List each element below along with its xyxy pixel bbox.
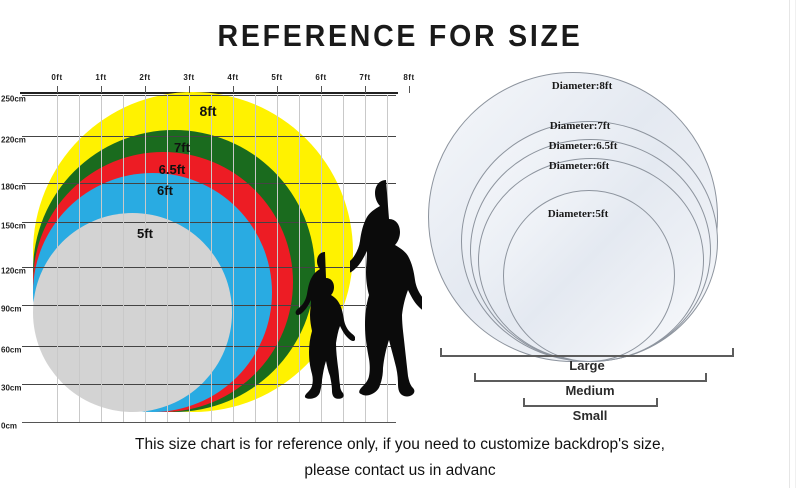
xtick-7ft [365,86,366,93]
xtick-4ft [233,86,234,93]
vgridline-2ft [145,95,146,422]
ring-5ft [33,213,232,412]
yaxis-label-250cm: 250cm [1,95,26,104]
ring-label-7ft: 7ft [174,140,190,155]
xtick-0ft [57,86,58,93]
child-silhouette [295,250,355,428]
disc-label-8ft: Diameter:8ft [552,80,612,92]
yaxis-label-30cm: 30cm [1,384,21,393]
disc-label-6_5ft: Diameter:6.5ft [549,140,618,152]
xaxis-label-7ft: 7ft [359,73,370,82]
bracket-large [440,348,734,357]
xaxis-label-2ft: 2ft [139,73,150,82]
xtick-2ft [145,86,146,93]
disc-size-panel: Diameter:8ft Diameter:7ft Diameter:6.5ft… [420,58,800,430]
page-title: REFERENCE FOR SIZE [32,18,768,54]
size-reference-chart: REFERENCE FOR SIZE [0,0,800,488]
vgridline-2_5ft [167,95,168,422]
yaxis-label-180cm: 180cm [1,183,26,192]
vgridline-4_5ft [255,95,256,422]
bracket-label-small: Small [573,408,608,423]
bracket-label-large: Large [569,358,604,373]
xaxis-label-0ft: 0ft [51,73,62,82]
yaxis-label-0cm: 0cm [1,422,17,431]
vgridline-1ft [101,95,102,422]
ring-label-5ft: 5ft [137,226,153,241]
woman-silhouette [350,178,422,430]
yaxis-label-60cm: 60cm [1,346,21,355]
vgridline-0_5ft [79,95,80,422]
yaxis-label-120cm: 120cm [1,267,26,276]
yaxis-label-220cm: 220cm [1,136,26,145]
xtick-6ft [321,86,322,93]
vgridline-1_5ft [123,95,124,422]
xaxis-label-8ft: 8ft [403,73,414,82]
vgridline-3_5ft [211,95,212,422]
caption-line-2: please contact us in advanc [0,458,800,484]
disc-label-7ft: Diameter:7ft [550,120,610,132]
ring-label-8ft: 8ft [199,103,216,119]
xaxis-label-4ft: 4ft [227,73,238,82]
xtick-5ft [277,86,278,93]
yaxis-label-90cm: 90cm [1,305,21,314]
caption-line-1: This size chart is for reference only, i… [135,436,665,453]
yaxis-label-150cm: 150cm [1,222,26,231]
vgridline-0ft [57,95,58,422]
vgridline-5ft [277,95,278,422]
footer-caption: This size chart is for reference only, i… [0,432,800,484]
xtick-1ft [101,86,102,93]
xaxis-label-3ft: 3ft [183,73,194,82]
human-scale-chart: 0ft 1ft 2ft 3ft 4ft 5ft 6ft 7ft 8ft 250c… [0,70,420,430]
bracket-small [523,398,658,407]
disc-label-5ft: Diameter:5ft [548,208,608,220]
bracket-label-medium: Medium [565,383,614,398]
xaxis-label-1ft: 1ft [95,73,106,82]
disc-label-6ft: Diameter:6ft [549,160,609,172]
bracket-medium [474,373,707,382]
ring-label-6ft: 6ft [157,183,173,198]
ring-label-6_5ft: 6.5ft [159,162,186,177]
vgridline-4ft [233,95,234,422]
xtick-3ft [189,86,190,93]
xaxis-label-6ft: 6ft [315,73,326,82]
xtick-8ft [409,86,410,93]
xaxis-label-5ft: 5ft [271,73,282,82]
